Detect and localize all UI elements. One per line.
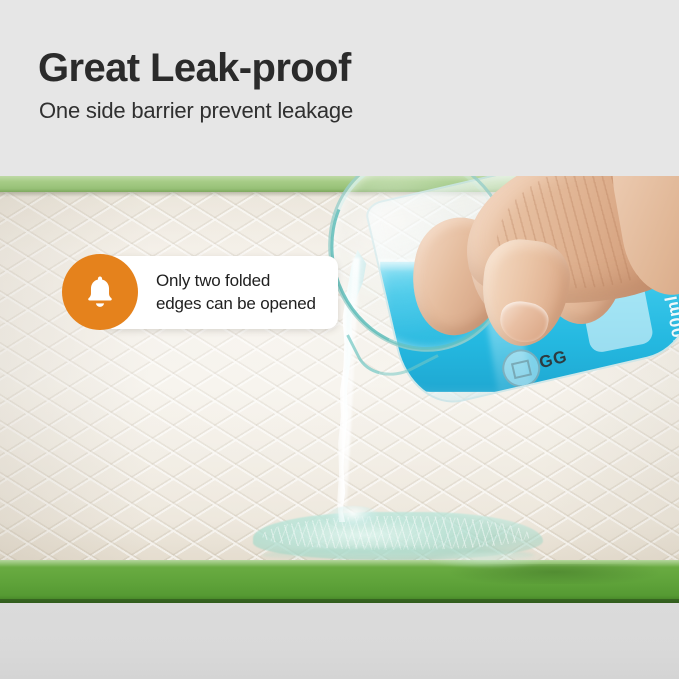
floor-surface (0, 603, 679, 679)
liquid-on-edge (430, 552, 570, 568)
hand-holding-beaker (404, 176, 679, 388)
feature-callout: Only two folded edges can be opened (62, 254, 338, 330)
callout-line-2: edges can be opened (156, 292, 316, 315)
puddle-highlight (262, 516, 530, 550)
bell-icon (81, 273, 119, 311)
product-photo: 500 APPROX 300 200 100 GG 500ml (0, 176, 679, 679)
callout-line-1: Only two folded (156, 269, 316, 292)
product-feature-image: 500 APPROX 300 200 100 GG 500ml G (0, 0, 679, 679)
bell-icon-badge (62, 254, 138, 330)
page-subtitle: One side barrier prevent leakage (39, 96, 353, 126)
header-banner: Great Leak-proof One side barrier preven… (0, 0, 679, 176)
page-title: Great Leak-proof (38, 44, 351, 92)
